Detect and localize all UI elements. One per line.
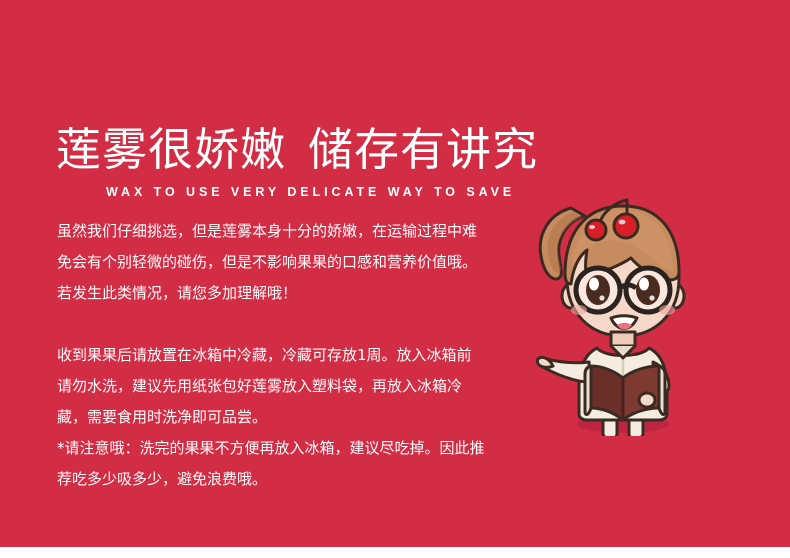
paragraph-storage-instructions: 收到果果后请放置在冰箱中冷藏，冷藏可存放1周。放入冰箱前请勿水洗，建议先用纸张包… <box>57 340 485 433</box>
right-cheek <box>659 305 675 315</box>
page-title: 莲雾很娇嫩储存有讲究 <box>56 126 538 176</box>
body-copy: 虽然我们仔细挑选，但是莲雾本身十分的娇嫩，在运输过程中难免会有个别轻微的碰伤，但… <box>57 216 485 495</box>
bottom-white-strip <box>0 547 790 558</box>
right-hand <box>639 393 655 407</box>
right-leg <box>629 420 643 436</box>
paragraph-shipping-notice: 虽然我们仔细挑选，但是莲雾本身十分的娇嫩，在运输过程中难免会有个别轻微的碰伤，但… <box>57 216 485 309</box>
pointing-arm <box>537 357 589 382</box>
top-wave-divider <box>0 0 790 60</box>
headline-part-2: 储存有讲究 <box>308 125 538 175</box>
headline-part-1: 莲雾很娇嫩 <box>56 125 286 175</box>
promo-banner: 莲雾很娇嫩储存有讲究 WAX TO USE VERY DELICATE WAY … <box>0 0 790 558</box>
mascot-svg: .ol { stroke:#3a2a22; stroke-width:3; st… <box>527 186 717 436</box>
neck <box>611 332 635 346</box>
paragraph-attention-note: *请注意哦：洗完的果果不方便再放入冰箱，建议尽吃掉。因此推荐吃多少吸多少，避免浪… <box>57 433 485 495</box>
mascot-illustration: .ol { stroke:#3a2a22; stroke-width:3; st… <box>527 186 717 436</box>
left-cheek <box>571 305 587 315</box>
page-subtitle: WAX TO USE VERY DELICATE WAY TO SAVE <box>106 184 515 199</box>
left-leg <box>603 420 617 436</box>
